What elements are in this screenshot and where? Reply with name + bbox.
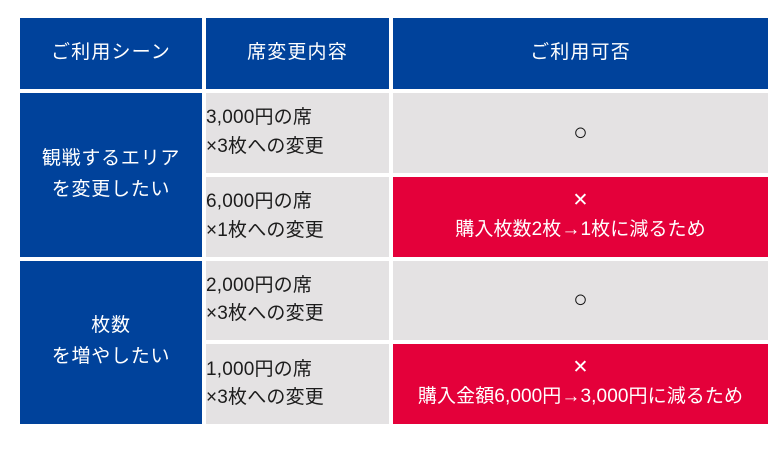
seat-change-line-2: ×3枚への変更: [206, 133, 389, 162]
column-header-seat-change: 席変更内容: [206, 18, 389, 89]
scene-cell-group-1: 観戦するエリア を変更したい: [20, 93, 202, 257]
scene-label-line-2: を変更したい: [20, 175, 202, 206]
availability-cell-allowed: ○: [393, 261, 768, 341]
availability-cell-denied: ✕ 購入枚数2枚→1枚に減るため: [393, 177, 768, 257]
seat-change-availability-table: ご利用シーン 席変更内容 ご利用可否 観戦するエリア を変更したい 3,000円…: [16, 14, 772, 428]
scene-cell-group-2: 枚数 を増やしたい: [20, 261, 202, 425]
availability-cell-allowed: ○: [393, 93, 768, 173]
seat-change-line-1: 6,000円の席: [206, 188, 389, 217]
table-header: ご利用シーン 席変更内容 ご利用可否: [20, 18, 768, 89]
seat-change-line-1: 2,000円の席: [206, 272, 389, 301]
seat-change-line-1: 3,000円の席: [206, 104, 389, 133]
availability-cell-denied: ✕ 購入金額6,000円→3,000円に減るため: [393, 344, 768, 424]
cross-ng-icon: ✕: [393, 358, 768, 377]
seat-change-availability-table-container: ご利用シーン 席変更内容 ご利用可否 観戦するエリア を変更したい 3,000円…: [20, 18, 760, 432]
column-header-scene: ご利用シーン: [20, 18, 202, 89]
seat-change-line-2: ×1枚への変更: [206, 217, 389, 246]
circle-ok-icon: ○: [393, 121, 768, 145]
cross-ng-icon: ✕: [393, 191, 768, 210]
scene-label-line-2: を増やしたい: [20, 342, 202, 373]
denial-reason-text: 購入枚数2枚→1枚に減るため: [393, 217, 768, 243]
circle-ok-icon: ○: [393, 288, 768, 312]
seat-change-line-2: ×3枚への変更: [206, 384, 389, 413]
seat-change-cell: 2,000円の席 ×3枚への変更: [206, 261, 389, 341]
denial-reason-text: 購入金額6,000円→3,000円に減るため: [393, 384, 768, 410]
table-body: 観戦するエリア を変更したい 3,000円の席 ×3枚への変更 ○ 6,000円…: [20, 93, 768, 424]
table-row: 枚数 を増やしたい 2,000円の席 ×3枚への変更 ○: [20, 261, 768, 341]
seat-change-cell: 3,000円の席 ×3枚への変更: [206, 93, 389, 173]
table-header-row: ご利用シーン 席変更内容 ご利用可否: [20, 18, 768, 89]
seat-change-line-2: ×3枚への変更: [206, 300, 389, 329]
column-header-availability: ご利用可否: [393, 18, 768, 89]
seat-change-cell: 1,000円の席 ×3枚への変更: [206, 344, 389, 424]
seat-change-cell: 6,000円の席 ×1枚への変更: [206, 177, 389, 257]
scene-label-line-1: 枚数: [20, 311, 202, 342]
seat-change-line-1: 1,000円の席: [206, 356, 389, 385]
scene-label-line-1: 観戦するエリア: [20, 144, 202, 175]
table-row: 観戦するエリア を変更したい 3,000円の席 ×3枚への変更 ○: [20, 93, 768, 173]
